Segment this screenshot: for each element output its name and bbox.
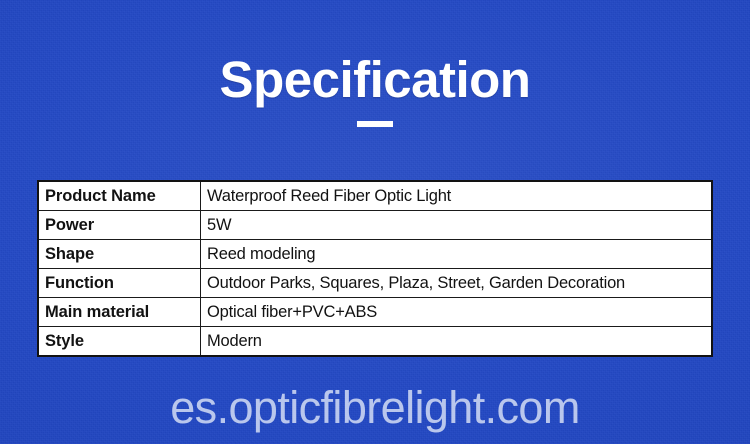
title-block: Specification — [0, 52, 750, 127]
specification-banner: Specification Product Name Waterproof Re… — [0, 0, 750, 444]
spec-label-shape: Shape — [38, 240, 201, 269]
table-row: Main material Optical fiber+PVC+ABS — [38, 298, 712, 327]
spec-label-function: Function — [38, 269, 201, 298]
site-watermark: es.opticfibrelight.com — [0, 379, 750, 437]
spec-value-shape: Reed modeling — [201, 240, 713, 269]
spec-value-power: 5W — [201, 211, 713, 240]
specification-table-body: Product Name Waterproof Reed Fiber Optic… — [38, 181, 712, 356]
spec-value-style: Modern — [201, 327, 713, 357]
table-row: Function Outdoor Parks, Squares, Plaza, … — [38, 269, 712, 298]
spec-value-function: Outdoor Parks, Squares, Plaza, Street, G… — [201, 269, 713, 298]
specification-table-container: Product Name Waterproof Reed Fiber Optic… — [37, 180, 713, 357]
page-title: Specification — [0, 52, 750, 108]
table-row: Style Modern — [38, 327, 712, 357]
spec-label-style: Style — [38, 327, 201, 357]
spec-label-power: Power — [38, 211, 201, 240]
title-divider — [357, 121, 393, 127]
table-row: Shape Reed modeling — [38, 240, 712, 269]
table-row: Power 5W — [38, 211, 712, 240]
spec-label-main-material: Main material — [38, 298, 201, 327]
specification-table: Product Name Waterproof Reed Fiber Optic… — [37, 180, 713, 357]
spec-value-product-name: Waterproof Reed Fiber Optic Light — [201, 181, 713, 211]
spec-value-main-material: Optical fiber+PVC+ABS — [201, 298, 713, 327]
spec-label-product-name: Product Name — [38, 181, 201, 211]
table-row: Product Name Waterproof Reed Fiber Optic… — [38, 181, 712, 211]
